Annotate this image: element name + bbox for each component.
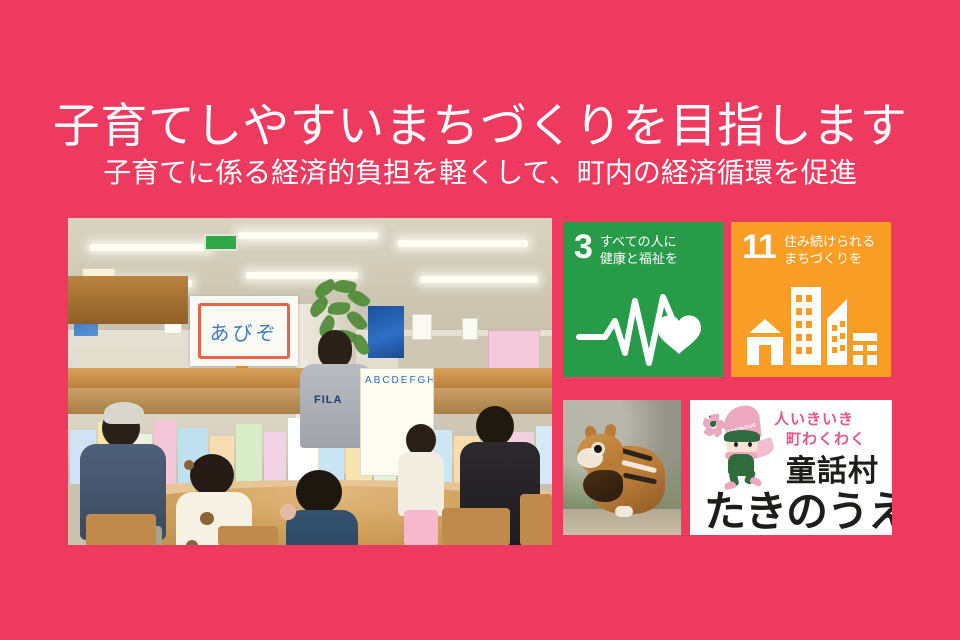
ceiling-light-icon: [398, 240, 528, 247]
heartbeat-icon: [575, 281, 711, 369]
sdg-3-header: 3 すべての人に 健康と福祉を: [574, 230, 715, 267]
mascot-eye: [748, 442, 752, 447]
chair: [442, 508, 510, 545]
sdg-11-number: 11: [742, 230, 776, 264]
logo-catchphrase-line1: 人いきいき: [774, 408, 854, 429]
sdg-badge-3: 3 すべての人に 健康と福祉を: [563, 222, 723, 377]
ceiling-light-icon: [90, 244, 210, 251]
ceiling-light-icon: [238, 232, 378, 239]
ceiling-light-icon: [246, 272, 358, 279]
library-photo: あびぞ FILA: [68, 218, 552, 545]
standing-adult-head: [318, 330, 352, 368]
sdg-3-label: すべての人に 健康と福祉を: [600, 230, 678, 267]
abizo-signboard: あびぞ: [190, 296, 298, 366]
abizo-sign-text: あびぞ: [198, 303, 290, 359]
sdg-11-header: 11 住み続けられる まちづくりを: [742, 230, 883, 267]
chair: [520, 494, 552, 545]
notice-paper: [462, 318, 478, 340]
chair: [86, 514, 156, 545]
sdg-3-number: 3: [574, 230, 592, 264]
pink-poster: [488, 330, 540, 370]
flower-icon: [704, 414, 724, 434]
chipmunk-photo: [563, 400, 681, 535]
low-shelf: [68, 276, 188, 324]
chipmunk-eye: [594, 445, 602, 453]
notice-paper: [412, 314, 432, 340]
page-subtitle: 子育てに係る経済的負担を軽くして、町内の経済循環を促進: [0, 156, 960, 190]
mascot-icon: TAKINOUE: [704, 406, 780, 482]
chipmunk-paw: [615, 506, 633, 517]
mascot-eye: [734, 442, 738, 447]
page-title: 子育てしやすいまちづくりを目指します: [0, 98, 960, 154]
takinoue-town-logo: TAKINOUE 人いきいき 町わくわく 童話村 たきのうえ: [690, 400, 892, 535]
city-buildings-icon: [743, 281, 879, 369]
slide-root: 子育てしやすいまちづくりを目指します 子育てに係る経済的負担を軽くして、町内の経…: [0, 0, 960, 640]
seed-held: [583, 470, 623, 502]
mascot-hair: [724, 430, 760, 442]
exit-sign-icon: [204, 234, 238, 251]
logo-town-name: たきのうえ: [704, 478, 892, 535]
ceiling-light-icon: [420, 276, 538, 283]
sdg-badge-11: 11 住み続けられる まちづくりを: [731, 222, 891, 377]
chair: [218, 526, 278, 545]
sweatshirt-logo-text: FILA: [314, 394, 342, 406]
sdg-11-label: 住み続けられる まちづくりを: [784, 230, 875, 267]
